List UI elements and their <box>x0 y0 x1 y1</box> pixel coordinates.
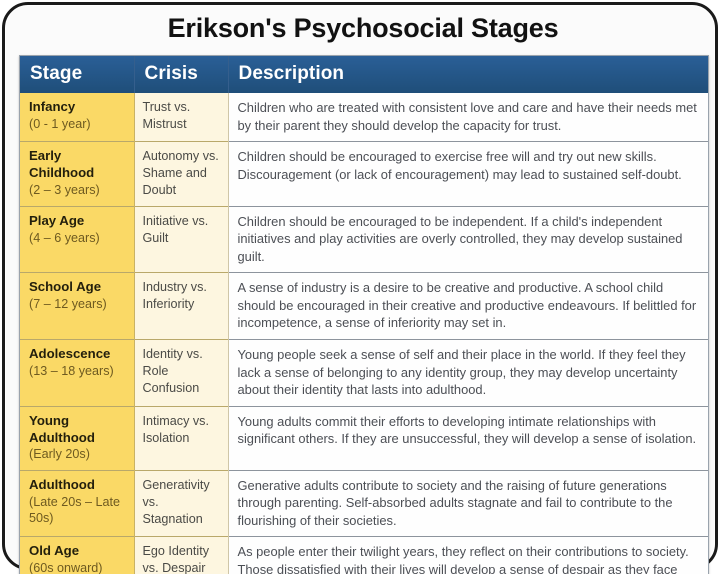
cell-stage: Infancy(0 - 1 year) <box>20 93 134 142</box>
stage-name: Old Age <box>29 543 126 560</box>
cell-crisis: Ego Identity vs. Despair <box>134 537 228 574</box>
cell-stage: Adolescence(13 – 18 years) <box>20 340 134 407</box>
content-card: Erikson's Psychosocial Stages Stage Cris… <box>2 2 718 570</box>
cell-description: A sense of industry is a desire to be cr… <box>228 273 708 340</box>
cell-stage: Adulthood(Late 20s – Late 50s) <box>20 470 134 537</box>
stage-age-range: (2 – 3 years) <box>29 182 126 198</box>
cell-crisis: Initiative vs. Guilt <box>134 206 228 273</box>
stage-name: Infancy <box>29 99 126 116</box>
cell-crisis: Autonomy vs. Shame and Doubt <box>134 142 228 207</box>
table-row: Early Childhood(2 – 3 years)Autonomy vs.… <box>20 142 708 207</box>
cell-stage: Play Age(4 – 6 years) <box>20 206 134 273</box>
stage-age-range: (4 – 6 years) <box>29 230 126 246</box>
cell-stage: Young Adulthood(Early 20s) <box>20 406 134 470</box>
cell-description: Generative adults contribute to society … <box>228 470 708 537</box>
cell-description: As people enter their twilight years, th… <box>228 537 708 574</box>
cell-crisis: Industry vs. Inferiority <box>134 273 228 340</box>
stage-name: Play Age <box>29 213 126 230</box>
column-header-crisis: Crisis <box>134 56 228 93</box>
stage-age-range: (Early 20s) <box>29 446 126 462</box>
table-row: Play Age(4 – 6 years)Initiative vs. Guil… <box>20 206 708 273</box>
stage-name: School Age <box>29 279 126 296</box>
cell-crisis: Trust vs. Mistrust <box>134 93 228 142</box>
stage-name: Adolescence <box>29 346 126 363</box>
cell-description: Children should be encouraged to be inde… <box>228 206 708 273</box>
column-header-stage: Stage <box>20 56 134 93</box>
cell-crisis: Identity vs. Role Confusion <box>134 340 228 407</box>
cell-stage: School Age(7 – 12 years) <box>20 273 134 340</box>
table-row: Adulthood(Late 20s – Late 50s)Generativi… <box>20 470 708 537</box>
cell-stage: Old Age(60s onward) <box>20 537 134 574</box>
table-row: Young Adulthood(Early 20s)Intimacy vs. I… <box>20 406 708 470</box>
cell-stage: Early Childhood(2 – 3 years) <box>20 142 134 207</box>
stages-table: Stage Crisis Description Infancy(0 - 1 y… <box>20 56 708 574</box>
table-row: Old Age(60s onward)Ego Identity vs. Desp… <box>20 537 708 574</box>
cell-crisis: Intimacy vs. Isolation <box>134 406 228 470</box>
stage-age-range: (13 – 18 years) <box>29 363 126 379</box>
stage-name: Young Adulthood <box>29 413 126 447</box>
cell-description: Children who are treated with consistent… <box>228 93 708 142</box>
page-title: Erikson's Psychosocial Stages <box>5 13 720 44</box>
cell-description: Children should be encouraged to exercis… <box>228 142 708 207</box>
table-row: Adolescence(13 – 18 years)Identity vs. R… <box>20 340 708 407</box>
table-body: Infancy(0 - 1 year)Trust vs. MistrustChi… <box>20 93 708 574</box>
table-row: School Age(7 – 12 years)Industry vs. Inf… <box>20 273 708 340</box>
cell-description: Young people seek a sense of self and th… <box>228 340 708 407</box>
table-header-row: Stage Crisis Description <box>20 56 708 93</box>
stages-table-container: Stage Crisis Description Infancy(0 - 1 y… <box>19 55 709 574</box>
cell-description: Young adults commit their efforts to dev… <box>228 406 708 470</box>
stage-name: Early Childhood <box>29 148 126 182</box>
table-header: Stage Crisis Description <box>20 56 708 93</box>
cell-crisis: Generativity vs. Stagnation <box>134 470 228 537</box>
stage-age-range: (7 – 12 years) <box>29 296 126 312</box>
stage-name: Adulthood <box>29 477 126 494</box>
page-root: Erikson's Psychosocial Stages Stage Cris… <box>0 0 720 574</box>
stage-age-range: (60s onward) <box>29 560 126 574</box>
table-row: Infancy(0 - 1 year)Trust vs. MistrustChi… <box>20 93 708 142</box>
stage-age-range: (0 - 1 year) <box>29 116 126 132</box>
stage-age-range: (Late 20s – Late 50s) <box>29 494 126 527</box>
column-header-description: Description <box>228 56 708 93</box>
